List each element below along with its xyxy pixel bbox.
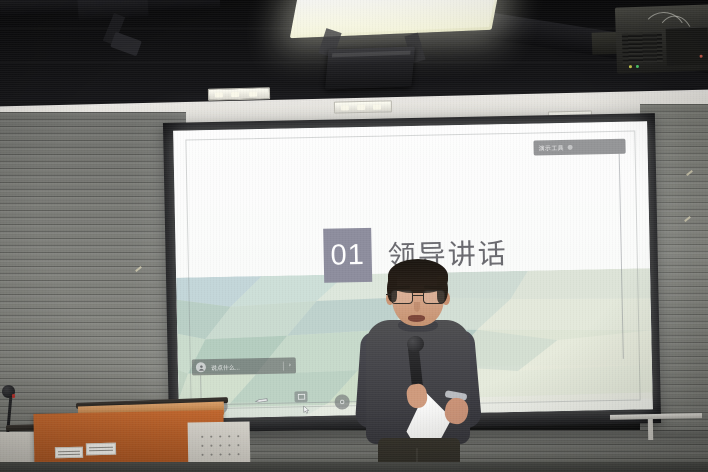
chat-send-chevron-icon[interactable]: › [289, 362, 292, 368]
presentation-top-toolbar[interactable]: 演示工具 [533, 139, 625, 156]
recessed-downlight [208, 87, 270, 100]
av-rack [615, 4, 708, 73]
user-avatar [196, 362, 206, 372]
ceiling-speaker [325, 47, 415, 90]
chat-input-placeholder[interactable]: 说点什么... [211, 361, 278, 371]
eyeglass-lens-left [391, 290, 413, 304]
podium-label [55, 447, 83, 459]
chat-divider [283, 361, 284, 370]
wall-shelf-bracket [648, 418, 653, 440]
podium-microphone-led [12, 394, 15, 398]
presenter [352, 272, 482, 472]
top-toolbar-label: 演示工具 [538, 143, 563, 153]
cursor-pointer-icon [303, 401, 310, 410]
recessed-downlight [334, 100, 392, 113]
eyeglass-lens-right [423, 290, 445, 304]
menu-dot-icon[interactable] [568, 145, 573, 150]
eyeglass-bridge [413, 295, 423, 296]
baseboard [0, 462, 708, 472]
chat-input-bar[interactable]: 说点什么... › [192, 357, 296, 375]
eyeglass-temple [386, 294, 392, 295]
podium-label [86, 443, 116, 456]
presenter-mouth [408, 315, 425, 322]
photo-scene: 01 领导讲话 演示工具 说点什么... › [0, 0, 708, 472]
presenter-nose [414, 302, 420, 312]
